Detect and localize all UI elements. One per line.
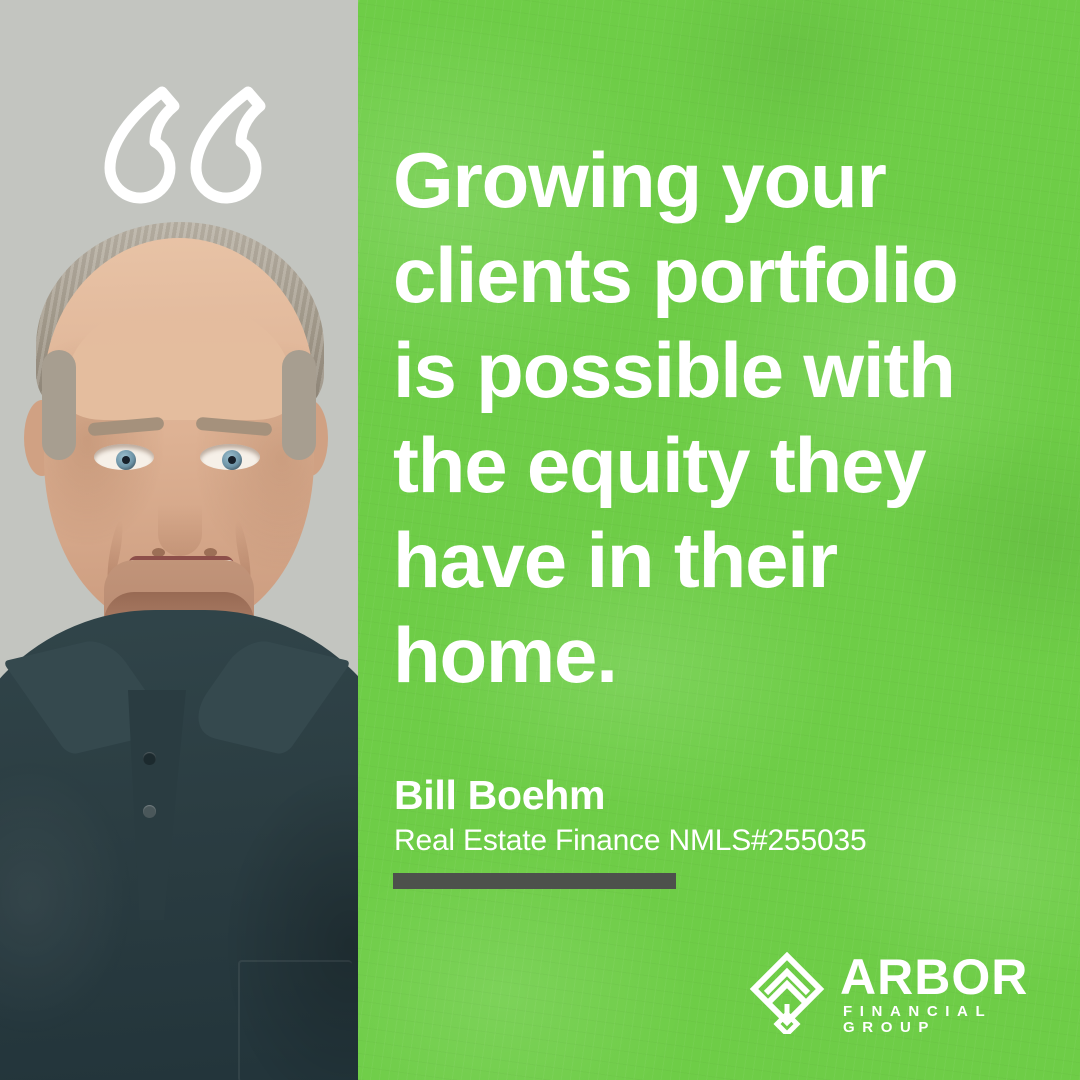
shirt-pocket [238,960,352,1080]
sideburn-right [282,350,316,460]
shirt-button-top [143,752,156,765]
accent-bar [393,873,676,889]
quote-text: Growing your clients portfolio is possib… [393,133,1053,703]
arbor-nested-chevron-diamond-icon [748,952,826,1034]
author-role: Real Estate Finance NMLS#255035 [394,824,866,858]
quote-open-icon [100,82,278,208]
quote-line-2: clients portfolio [393,228,1053,323]
nose [158,470,202,556]
author-name: Bill Boehm [394,772,605,819]
logo-tagline: FINANCIAL GROUP [843,1004,1034,1036]
logo-wordmark: ARBOR [840,951,1028,1003]
quote-line-1: Growing your [393,133,1053,228]
sideburn-left [42,350,76,460]
quote-line-6: home. [393,608,1053,703]
quote-line-3: is possible with [393,323,1053,418]
shirt-button-bottom [143,805,156,818]
photo-panel [0,0,358,1080]
pupil-right [228,456,236,464]
quote-line-4: the equity they [393,418,1053,513]
pupil-left [122,456,130,464]
arbor-logo: ARBOR FINANCIAL GROUP [748,950,1034,1036]
social-quote-card: Growing your clients portfolio is possib… [0,0,1080,1080]
quote-line-5: have in their [393,513,1053,608]
